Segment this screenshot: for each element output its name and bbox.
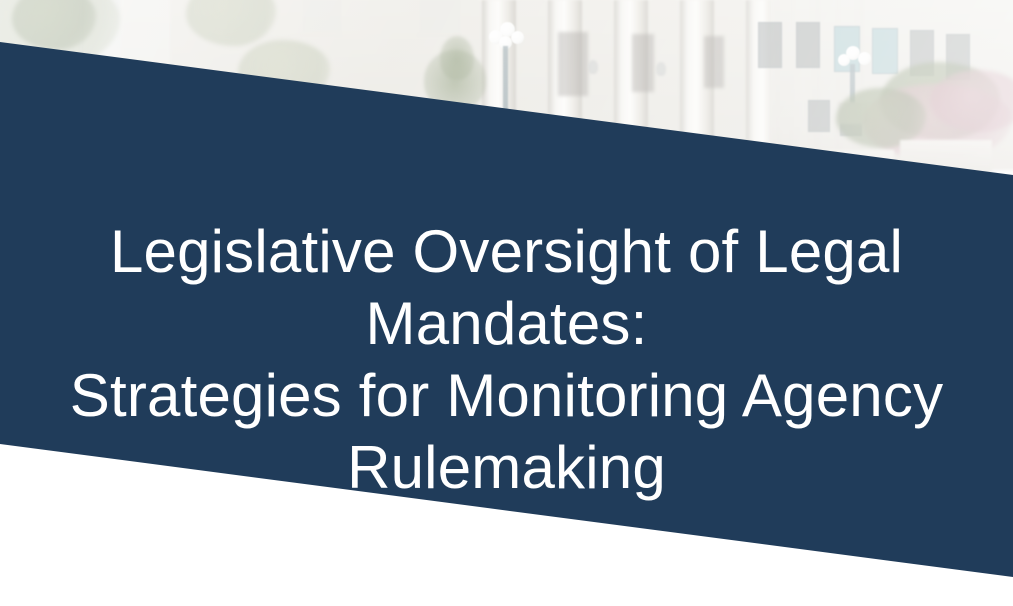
lamp-globe: [511, 31, 524, 44]
slide-title-line-1: Legislative Oversight of Legal Mandates:: [0, 216, 1013, 360]
window: [808, 100, 830, 132]
doorway: [704, 36, 724, 88]
lamp-globe: [858, 52, 871, 65]
window: [758, 22, 782, 68]
lamp-globe: [838, 54, 850, 66]
wall-sconce: [588, 60, 598, 74]
slide-title-line-3: Rulemaking: [0, 432, 1013, 504]
slide-title-line-2: Strategies for Monitoring Agency: [0, 360, 1013, 432]
window: [796, 22, 820, 68]
shrub: [440, 36, 474, 80]
tree-foliage: [836, 88, 926, 148]
doorway: [632, 34, 654, 92]
slide-title: Legislative Oversight of Legal Mandates:…: [0, 216, 1013, 504]
window: [872, 28, 898, 74]
wall-sconce: [656, 62, 666, 76]
title-slide: Legislative Oversight of Legal Mandates:…: [0, 0, 1013, 606]
doorway: [558, 32, 588, 96]
lamp-post: [503, 46, 508, 118]
